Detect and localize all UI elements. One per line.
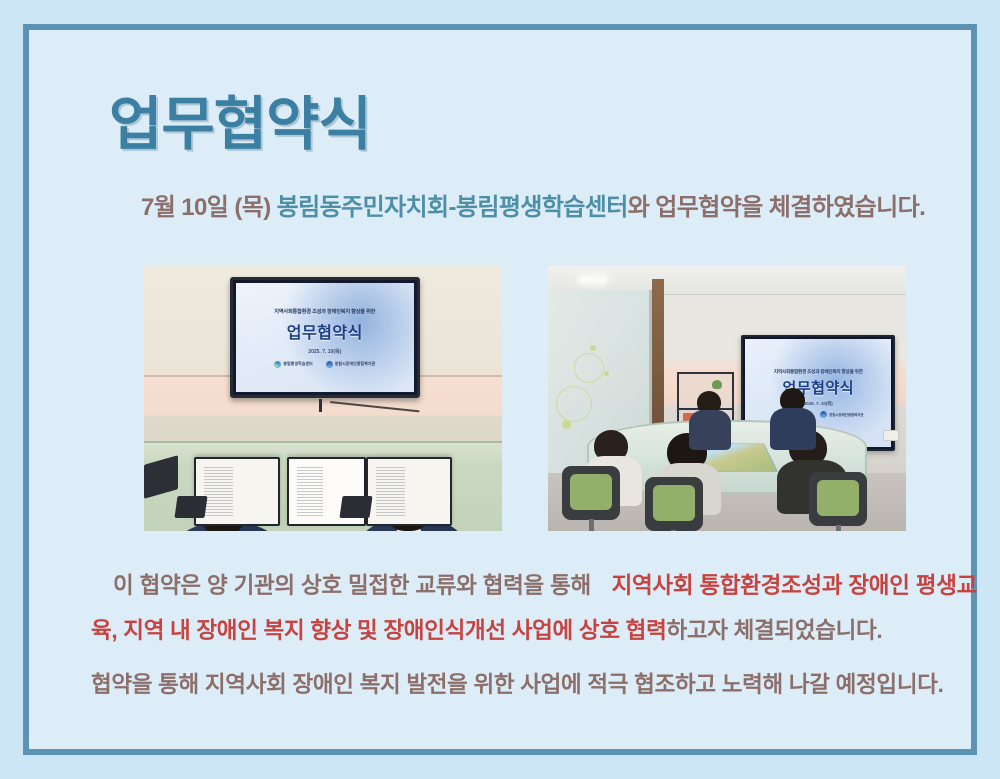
photo2-dandelion-decal-2	[556, 386, 592, 422]
body-paragraph-1: 이 협약은 양 기관의 상호 밀접한 교류와 협력을 통해ㅤ지역사회 통합환경조…	[91, 563, 977, 653]
photo1-logo-1: 봉림평생학습센터	[274, 361, 312, 368]
photo2-participant-far-right-torso	[770, 408, 816, 450]
photo2-potted-plant	[712, 380, 722, 389]
subtitle-organizations: 봉림동주민자치회-봉림평생학습센터	[277, 194, 628, 221]
photo2-logo-2: 창원시장애인종합복지관	[820, 411, 863, 418]
body-paragraph-1-lead: 이 협약은 양 기관의 상호 밀접한 교류와 협력을 통해ㅤ	[113, 573, 612, 598]
photo1-tv-screen: 지역사회통합환경 조성과 장애인복지 향상을 위한 업무협약식 2025. 7.…	[236, 283, 414, 393]
photo1-tv-monitor: 지역사회통합환경 조성과 장애인복지 향상을 위한 업무협약식 2025. 7.…	[230, 277, 420, 399]
signing-ceremony-photo: 지역사회통합환경 조성과 장애인복지 향상을 위한 업무협약식 2025. 7.…	[144, 266, 502, 531]
photo1-screen-title: 업무협약식	[287, 319, 363, 343]
photo1-screen-date: 2025. 7. 10(목)	[308, 348, 341, 355]
meeting-room-photo: 지역사회통합환경 조성과 장애인복지 향상을 위한 업무협약식 2025. 7.…	[548, 266, 906, 531]
photo-row: 지역사회통합환경 조성과 장애인복지 향상을 위한 업무협약식 2025. 7.…	[144, 266, 914, 531]
photo1-screen-line1: 지역사회통합환경 조성과 장애인복지 향상을 위한	[274, 308, 375, 315]
photo1-agreement-document-right	[366, 457, 452, 526]
photo2-decal-dot-2	[562, 420, 571, 429]
photo2-office-chair-1	[562, 466, 620, 520]
photo2-office-chair-2	[645, 477, 703, 531]
page-title-wrap: 업무협약식	[109, 95, 371, 156]
subtitle-date: 7월 10일 (목)	[141, 194, 277, 221]
photo2-chair-leg	[836, 525, 841, 531]
photo2-decal-dot-3	[604, 371, 609, 376]
poster-canvas: 업무협약식 7월 10일 (목) 봉림동주민자치회-봉림평생학습센터와 업무협약…	[0, 0, 1000, 779]
photo2-ceiling-light	[580, 277, 606, 282]
photo1-logo-2: 창원시장애인종합복지관	[326, 361, 375, 368]
photo1-logo-2-label: 창원시장애인종합복지관	[335, 361, 375, 367]
page-title: 업무협약식	[109, 95, 371, 156]
subtitle-tail: 와 업무협약을 체결하였습니다.	[628, 194, 925, 221]
photo2-chair-leg	[671, 530, 676, 531]
photo2-decal-dot-1	[590, 345, 596, 351]
body-copy: 이 협약은 양 기관의 상호 밀접한 교류와 협력을 통해ㅤ지역사회 통합환경조…	[91, 563, 977, 707]
photo2-chair-leg	[589, 519, 594, 531]
changwon-logo-icon	[820, 411, 827, 418]
changwon-logo-icon	[326, 361, 333, 368]
body-paragraph-2: 협약을 통해 지역사회 장애인 복지 발전을 위한 사업에 적극 협조하고 노력…	[91, 662, 977, 707]
photo1-logo-1-label: 봉림평생학습센터	[283, 361, 312, 367]
subtitle-line: 7월 10일 (목) 봉림동주민자치회-봉림평생학습센터와 업무협약을 체결하였…	[141, 192, 925, 223]
body-paragraph-1-tail: 하고자 체결되었습니다.	[666, 618, 882, 643]
photo2-screen-date: 2025. 7. 10(목)	[804, 401, 833, 407]
photo2-participant-far-left-torso	[689, 410, 731, 450]
bonglim-logo-icon	[274, 361, 281, 368]
photo2-dandelion-decal-1	[574, 353, 604, 383]
photo2-screen-line1: 지역사회통합환경 조성과 장애인복지 향상을 위한	[774, 369, 863, 375]
photo1-nameplate-left	[175, 496, 208, 518]
photo2-wall-outlet	[883, 430, 899, 441]
photo2-office-chair-3	[809, 472, 867, 526]
photo1-screen-logos: 봉림평생학습센터 창원시장애인종합복지관	[274, 361, 375, 368]
photo1-tv-stand	[319, 399, 322, 412]
photo1-nameplate-right	[339, 496, 372, 518]
photo1-agreement-document-left	[194, 457, 280, 526]
photo2-logo-2-label: 창원시장애인종합복지관	[829, 412, 863, 417]
poster-frame: 업무협약식 7월 10일 (목) 봉림동주민자치회-봉림평생학습센터와 업무협약…	[23, 24, 977, 755]
